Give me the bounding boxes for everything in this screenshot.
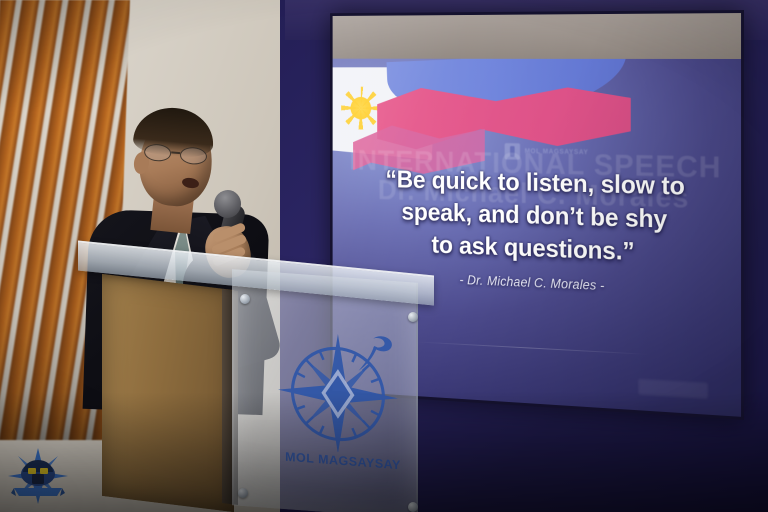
acrylic-podium: MOL MAGSAYSAY bbox=[72, 250, 442, 512]
podium-bolt-top-left bbox=[240, 294, 250, 304]
glasses-bridge bbox=[171, 151, 180, 153]
slide-footer-mark bbox=[638, 379, 707, 399]
podium-bolt-top-right bbox=[408, 312, 418, 322]
podium-wood-side bbox=[102, 274, 234, 512]
photo-scene: MOL MAGSAYSAY INTERNATIONAL SPEECH Dr. M… bbox=[0, 0, 768, 512]
lens-right bbox=[179, 146, 207, 165]
compass-rose-logo bbox=[278, 323, 402, 456]
lens-left bbox=[143, 143, 171, 162]
flag-sun-icon bbox=[348, 94, 374, 122]
screen-top-band bbox=[333, 13, 741, 61]
slide-divider bbox=[415, 341, 649, 355]
compass-star-watermark bbox=[6, 446, 70, 506]
podium-bolt-bottom-right bbox=[408, 502, 418, 512]
podium-bolt-bottom-left bbox=[238, 488, 248, 498]
